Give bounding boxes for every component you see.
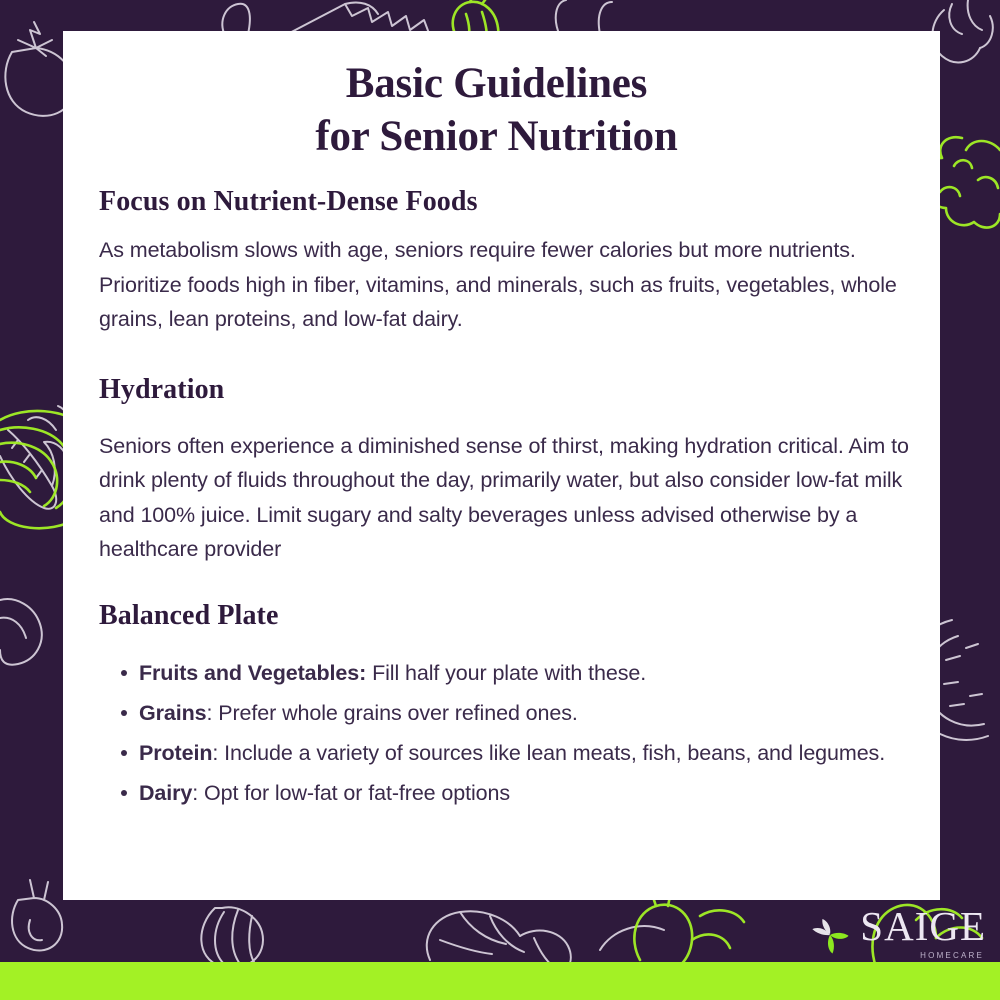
list-item-term: Dairy <box>139 781 192 805</box>
list-item-text: : Opt for low-fat or fat-free options <box>192 781 510 805</box>
heading-nutrient-dense-foods: Focus on Nutrient-Dense Foods <box>99 185 912 219</box>
logo-tagline: HOMECARE <box>920 951 984 960</box>
heading-hydration: Hydration <box>99 373 912 407</box>
section-hydration: Hydration Seniors often experience a dim… <box>81 373 912 567</box>
list-item-text: : Prefer whole grains over refined ones. <box>207 701 578 725</box>
list-item: Fruits and Vegetables: Fill half your pl… <box>121 653 912 693</box>
section-nutrient-dense-foods: Focus on Nutrient-Dense Foods As metabol… <box>81 185 912 337</box>
logo-wordmark: SAIGE <box>860 906 986 947</box>
balanced-plate-list: Fruits and Vegetables: Fill half your pl… <box>99 653 912 813</box>
list-item-term: Grains <box>139 701 207 725</box>
bottom-accent-bar <box>0 962 1000 1000</box>
saige-four-petal-flower-icon <box>809 914 851 956</box>
list-item-term: Fruits and Vegetables: <box>139 661 366 685</box>
list-item-text: Fill half your plate with these. <box>366 661 646 685</box>
paragraph-hydration: Seniors often experience a diminished se… <box>99 429 912 567</box>
content-card: Basic Guidelines for Senior Nutrition Fo… <box>63 31 940 900</box>
heading-balanced-plate: Balanced Plate <box>99 599 912 633</box>
list-item: Protein: Include a variety of sources li… <box>121 733 912 773</box>
section-balanced-plate: Balanced Plate Fruits and Vegetables: Fi… <box>81 599 912 813</box>
page-title-line1: Basic Guidelines <box>346 60 647 107</box>
paragraph-nutrient-dense-foods: As metabolism slows with age, seniors re… <box>99 233 912 337</box>
list-item: Dairy: Opt for low-fat or fat-free optio… <box>121 773 912 813</box>
page-title-line2: for Senior Nutrition <box>81 110 912 163</box>
list-item-term: Protein <box>139 741 212 765</box>
brand-logo: SAIGE HOMECARE <box>809 906 986 960</box>
list-item: Grains: Prefer whole grains over refined… <box>121 693 912 733</box>
logo-text-wrap: SAIGE HOMECARE <box>860 906 986 960</box>
list-item-text: : Include a variety of sources like lean… <box>212 741 885 765</box>
page-title: Basic Guidelines for Senior Nutrition <box>81 57 912 163</box>
